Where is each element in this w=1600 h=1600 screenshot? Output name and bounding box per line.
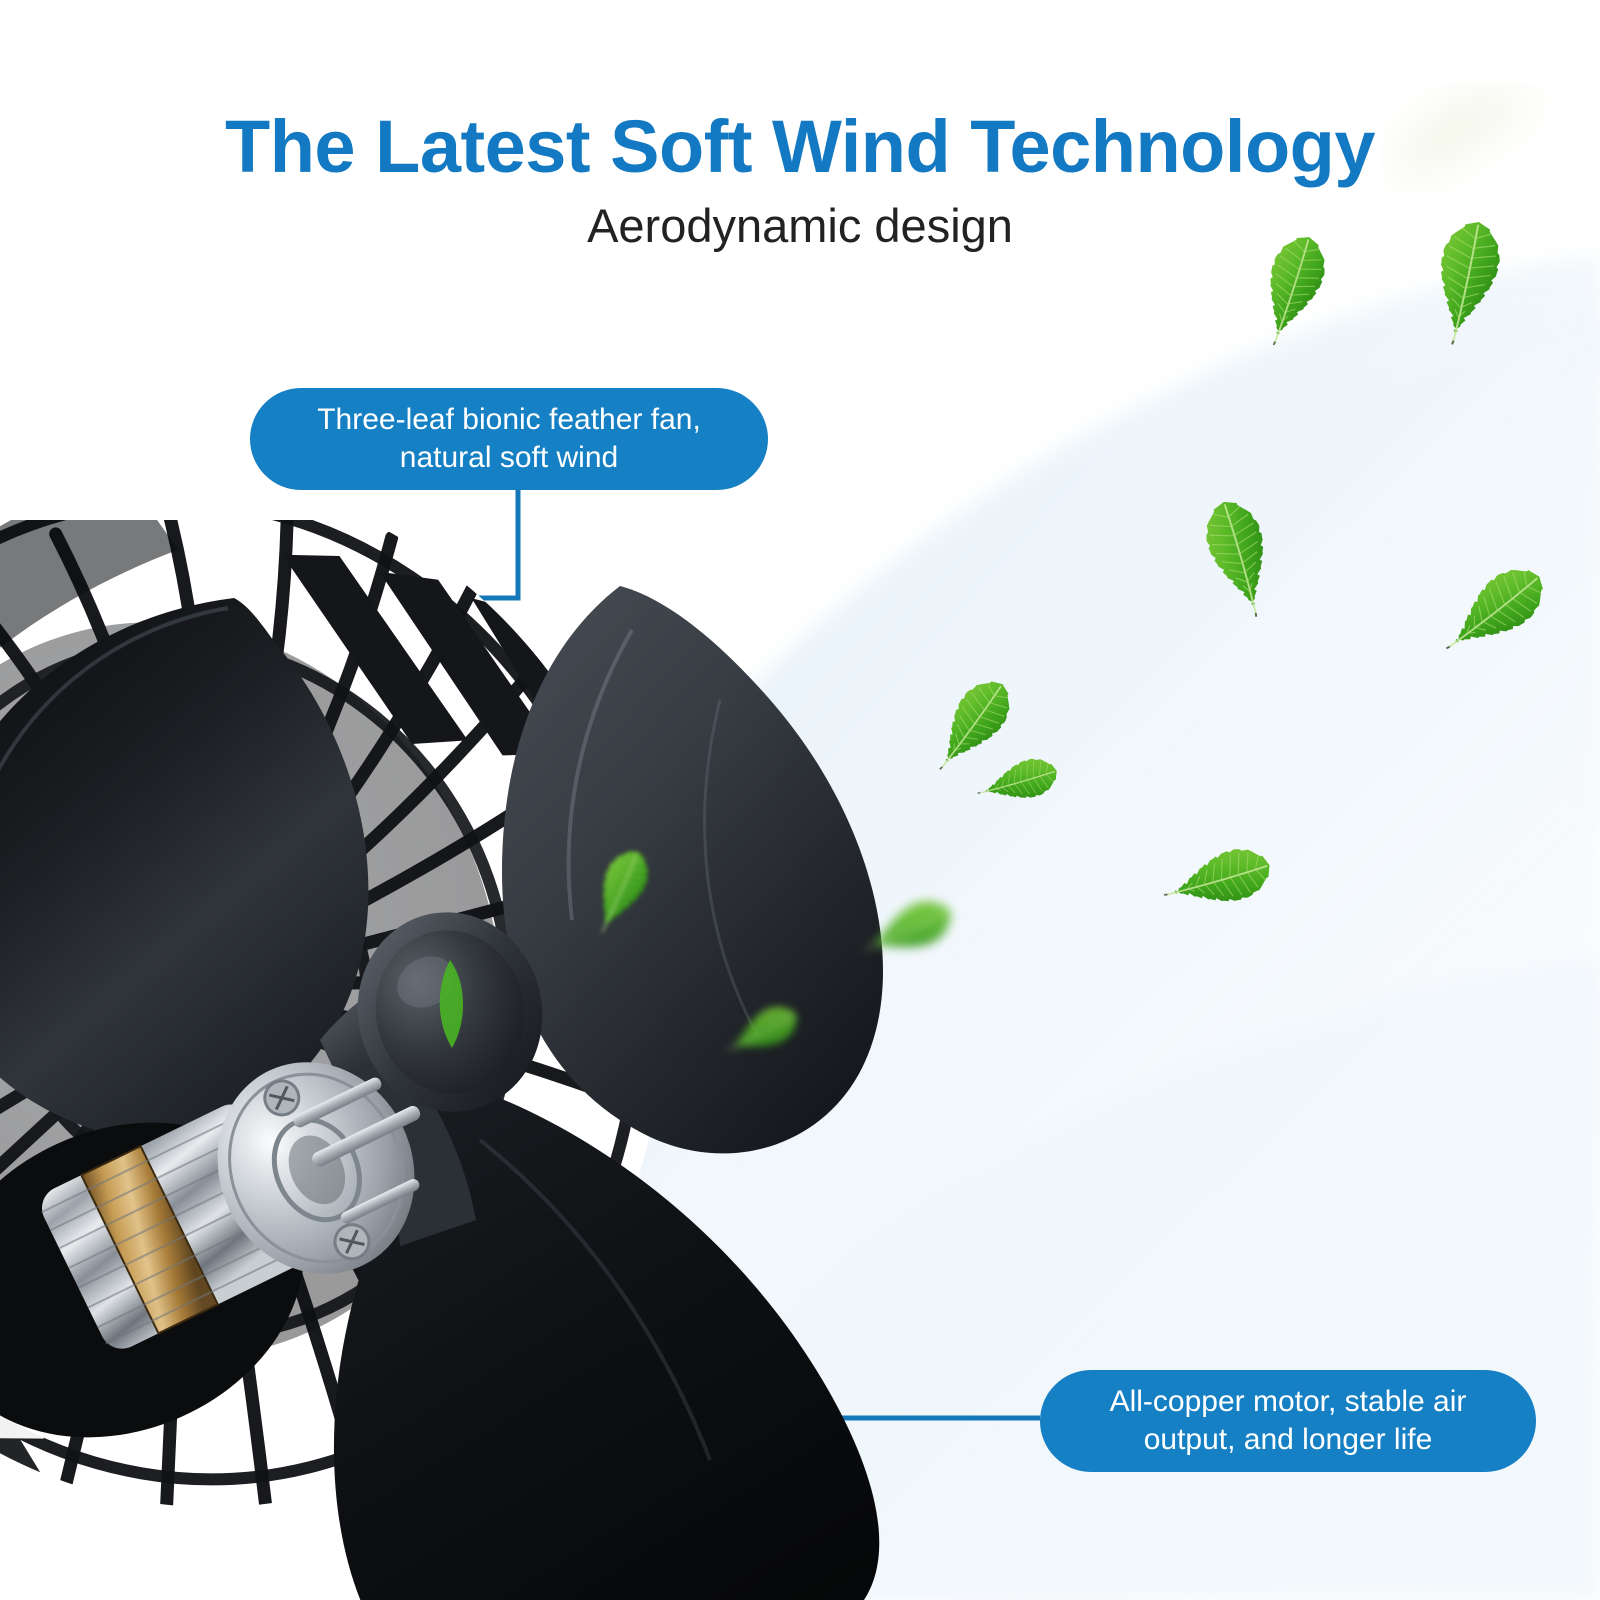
- callout-motor-line1: All-copper motor, stable air: [1110, 1383, 1467, 1421]
- leaf-icon: [1426, 549, 1561, 675]
- leaf-icon: [1156, 835, 1281, 925]
- page-subtitle: Aerodynamic design: [0, 198, 1600, 253]
- callout-motor[interactable]: All-copper motor, stable air output, and…: [1040, 1370, 1536, 1472]
- callout-fan-line1: Three-leaf bionic feather fan,: [317, 401, 701, 439]
- leaf-icon: [1191, 490, 1288, 625]
- page-title: The Latest Soft Wind Technology: [0, 104, 1600, 189]
- product-feature-banner: The Latest Soft Wind Technology Aerodyna…: [0, 0, 1600, 1600]
- callout-motor-line2: output, and longer life: [1110, 1421, 1467, 1459]
- fan-product-image: [0, 520, 1100, 1600]
- callout-fan-line2: natural soft wind: [317, 439, 701, 477]
- callout-fan-blade[interactable]: Three-leaf bionic feather fan, natural s…: [250, 388, 768, 490]
